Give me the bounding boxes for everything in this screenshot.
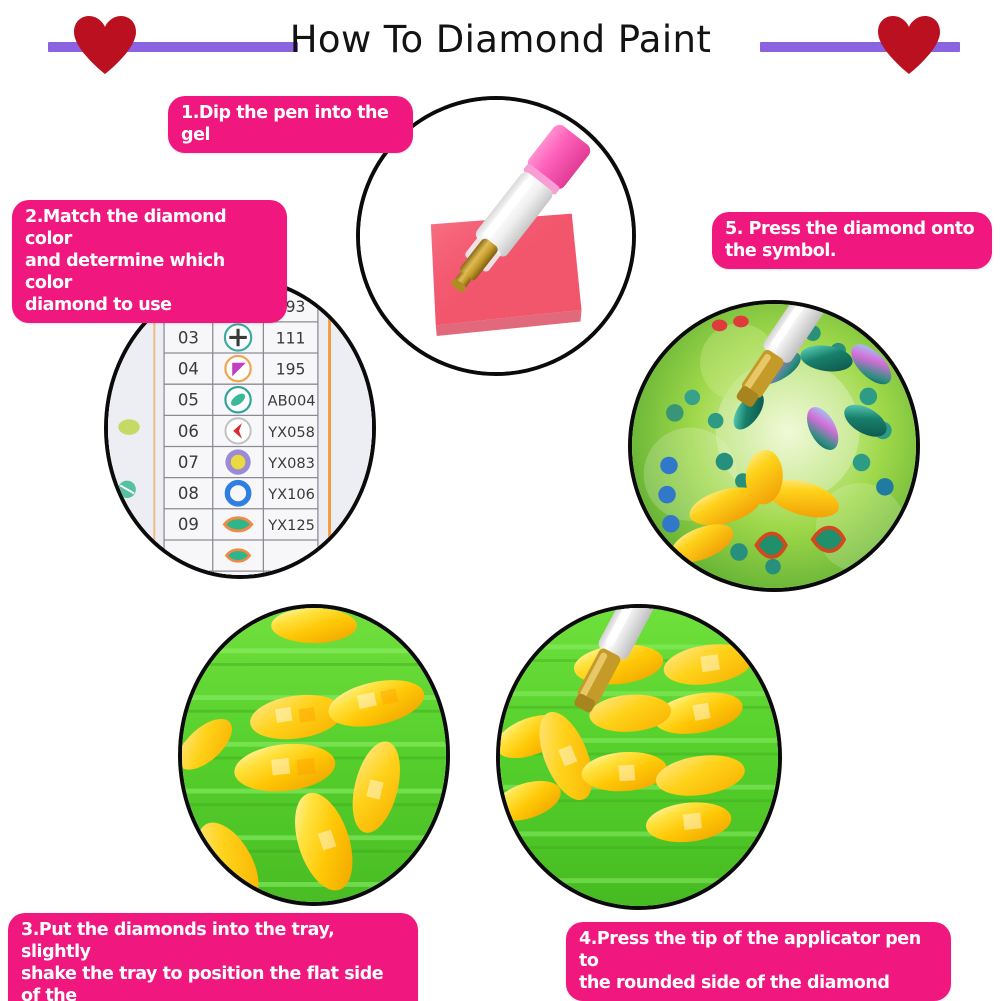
page-title: How To Diamond Paint [0, 18, 1001, 61]
panel-gem-on-canvas [628, 300, 920, 592]
svg-text:YX125: YX125 [267, 517, 315, 534]
svg-text:08: 08 [178, 484, 199, 503]
step-2-label: 2.Match the diamond color and determine … [12, 200, 287, 323]
svg-text:04: 04 [178, 359, 199, 378]
pen-picking-gem-photo [500, 608, 778, 906]
panel-pen-picking-gem [496, 604, 782, 910]
svg-text:09: 09 [178, 515, 199, 534]
svg-text:AB004: AB004 [268, 393, 316, 410]
panel-diamond-tray [178, 604, 450, 906]
svg-text:YX058: YX058 [267, 424, 315, 441]
svg-text:07: 07 [178, 453, 199, 472]
diamond-tray-photo [182, 608, 446, 902]
infographic-page: How To Diamond Paint [0, 0, 1001, 1001]
step-4-label: 4.Press the tip of the applicator pen to… [566, 922, 951, 1001]
step-5-label: 5. Press the diamond onto the symbol. [712, 212, 992, 269]
svg-text:YX106: YX106 [267, 486, 315, 503]
svg-text:05: 05 [178, 391, 199, 410]
svg-text:YX083: YX083 [267, 455, 315, 472]
svg-text:03: 03 [178, 328, 199, 347]
svg-text:06: 06 [178, 422, 199, 441]
step-3-label: 3.Put the diamonds into the tray, slight… [8, 913, 418, 1001]
gem-on-canvas-photo [632, 304, 916, 588]
svg-text:111: 111 [276, 329, 306, 347]
color-chart-photo: 01 028 02 093 03 111 04 [108, 281, 372, 575]
step-1-label: 1.Dip the pen into the gel [168, 96, 413, 153]
svg-text:195: 195 [276, 360, 306, 378]
